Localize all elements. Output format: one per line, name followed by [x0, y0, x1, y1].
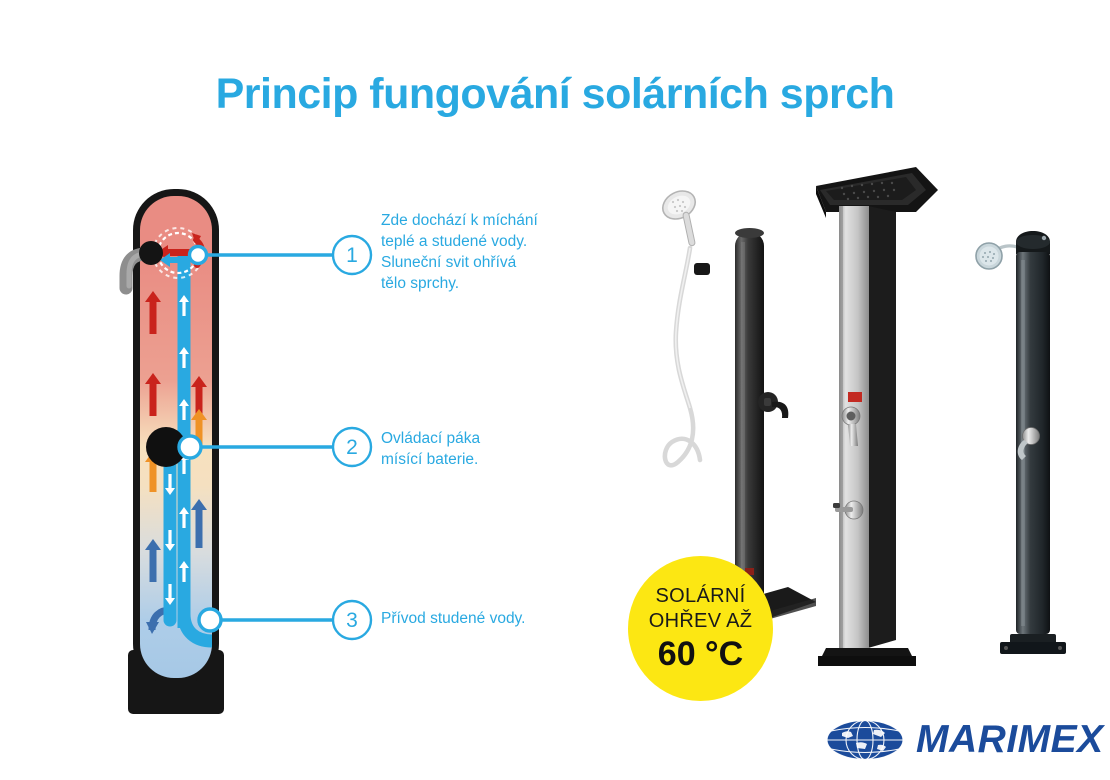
- callout-text-2: Ovládací páka mísící baterie.: [381, 428, 480, 470]
- round-shower-head-3: [976, 243, 1020, 269]
- infographic-page: Princip fungování solárních sprch: [0, 0, 1110, 780]
- globe-icon: [826, 719, 904, 761]
- callout-leader-3: 3: [199, 601, 371, 639]
- callout-anchor-1: [190, 247, 207, 264]
- callout-anchor-3: [199, 609, 221, 631]
- callout-text-3: Přívod studené vody.: [381, 608, 525, 629]
- callout-number-1: 1: [346, 244, 358, 267]
- callout-number-2: 2: [346, 436, 358, 459]
- product-silver-square-shower: [816, 167, 938, 666]
- handheld-shower-head-1: [658, 186, 700, 247]
- shower-hose-1: [665, 248, 700, 465]
- foot-tap-2: [833, 501, 863, 519]
- solar-shower-cutaway-diagram: 1 2 3: [0, 0, 620, 780]
- callout-number-3: 3: [346, 609, 358, 632]
- marimex-logo[interactable]: MARIMEX: [826, 718, 1104, 762]
- solar-heating-badge: SOLÁRNÍ OHŘEV AŽ 60 °C: [628, 556, 773, 701]
- badge-temperature: 60 °C: [658, 635, 743, 673]
- badge-line-1: SOLÁRNÍ: [656, 584, 746, 609]
- product-label-red: [848, 392, 862, 402]
- product-dark-round-shower: [976, 231, 1066, 654]
- logo-wordmark: MARIMEX: [916, 718, 1104, 762]
- callout-anchor-2: [179, 436, 201, 458]
- badge-line-2: OHŘEV AŽ: [649, 609, 753, 634]
- callout-text-1: Zde dochází k míchání teplé a studené vo…: [381, 210, 538, 294]
- inlet-flow-arrow: [219, 636, 238, 646]
